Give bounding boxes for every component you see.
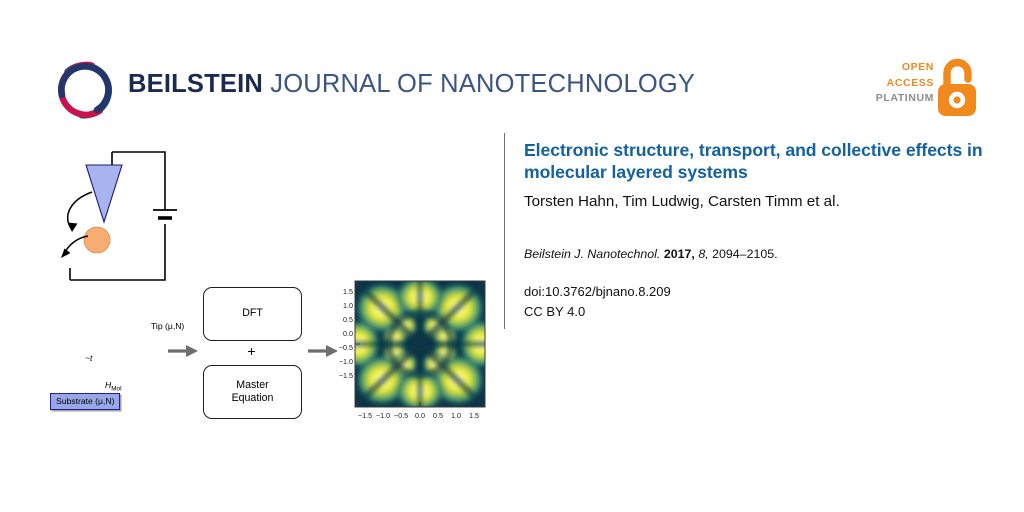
method-box-dft: DFT — [203, 287, 302, 341]
svg-text:−0.5: −0.5 — [394, 411, 408, 420]
citation-pages: 2094–2105. — [712, 247, 777, 261]
method-box-dft-label: DFT — [242, 307, 263, 321]
svg-text:−0.5: −0.5 — [339, 343, 353, 352]
svg-text:1.0: 1.0 — [343, 301, 353, 310]
stm-tip-label: Tip (μ,N) — [151, 321, 184, 331]
method-box-master-equation: Master Equation — [203, 365, 302, 419]
svg-text:0.0: 0.0 — [343, 329, 353, 338]
svg-text:1.5: 1.5 — [343, 287, 353, 296]
masthead: BEILSTEIN JOURNAL OF NANOTECHNOLOGY OPEN… — [0, 0, 1024, 132]
article-authors: Torsten Hahn, Tim Ludwig, Carsten Timm e… — [524, 192, 994, 212]
plus-sign: + — [203, 342, 300, 360]
svg-text:0.0: 0.0 — [415, 411, 425, 420]
method-box-me-label-line1: Master — [236, 379, 268, 391]
svg-text:1.0: 1.0 — [451, 411, 461, 420]
open-access-badge: OPEN ACCESS PLATINUM — [878, 58, 990, 120]
citation-journal: Beilstein J. Nanotechnol. — [524, 247, 660, 261]
vertical-divider — [504, 133, 505, 329]
svg-text:0.5: 0.5 — [343, 315, 353, 324]
stm-coupling-label: ~t — [85, 353, 92, 363]
wordmark-beilstein: BEILSTEIN — [128, 70, 263, 98]
stm-molecule-label-sub: Mol — [111, 386, 121, 393]
wordmark-journal-of-nanotechnology: JOURNAL OF NANOTECHNOLOGY — [270, 70, 695, 98]
journal-wordmark: BEILSTEIN JOURNAL OF NANOTECHNOLOGY — [128, 70, 695, 99]
open-access-line-platinum: PLATINUM — [876, 91, 934, 107]
stm-molecule-label: HMol — [105, 380, 122, 393]
plot-y-axis-labels: 1.5 1.0 0.5 0.0 −0.5 −1.0 −1.5 — [333, 275, 353, 425]
stm-substrate-label: Substrate (μ,N) — [50, 393, 120, 410]
svg-text:−1.5: −1.5 — [339, 371, 353, 380]
article-citation: Beilstein J. Nanotechnol. 2017, 8, 2094–… — [524, 246, 994, 263]
plot-x-axis-labels: −1.5 −1.0 −0.5 0.0 0.5 1.0 1.5 — [337, 409, 493, 427]
arrow-right-icon-left — [168, 344, 198, 363]
svg-text:−1.0: −1.0 — [376, 411, 390, 420]
open-access-text: OPEN ACCESS PLATINUM — [876, 60, 934, 107]
svg-text:0.5: 0.5 — [433, 411, 443, 420]
method-box-me-label-line2: Equation — [232, 392, 274, 404]
open-access-line-open: OPEN — [876, 60, 934, 76]
citation-volume: 8, — [698, 247, 708, 261]
citation-year: 2017, — [664, 247, 695, 261]
article-license[interactable]: CC BY 4.0 — [524, 303, 994, 322]
open-lock-icon — [936, 58, 982, 118]
orbital-density-plot: −1.5 −1.0 −0.5 0.0 0.5 1.0 1.5 1.5 1.0 0… — [337, 275, 493, 425]
svg-text:1.5: 1.5 — [469, 411, 479, 420]
article-metadata: Electronic structure, transport, and col… — [524, 140, 994, 321]
article-doi[interactable]: doi:10.3762/bjnano.8.209 — [524, 283, 994, 302]
open-access-line-access: ACCESS — [876, 76, 934, 92]
graphical-abstract: Tip (μ,N) ~t HMol Substrate (μ,N) DFT + … — [0, 132, 504, 332]
svg-text:−1.0: −1.0 — [339, 357, 353, 366]
svg-text:−1.5: −1.5 — [358, 411, 372, 420]
beilstein-circles-logo-icon — [52, 57, 118, 123]
article-title[interactable]: Electronic structure, transport, and col… — [524, 140, 994, 183]
